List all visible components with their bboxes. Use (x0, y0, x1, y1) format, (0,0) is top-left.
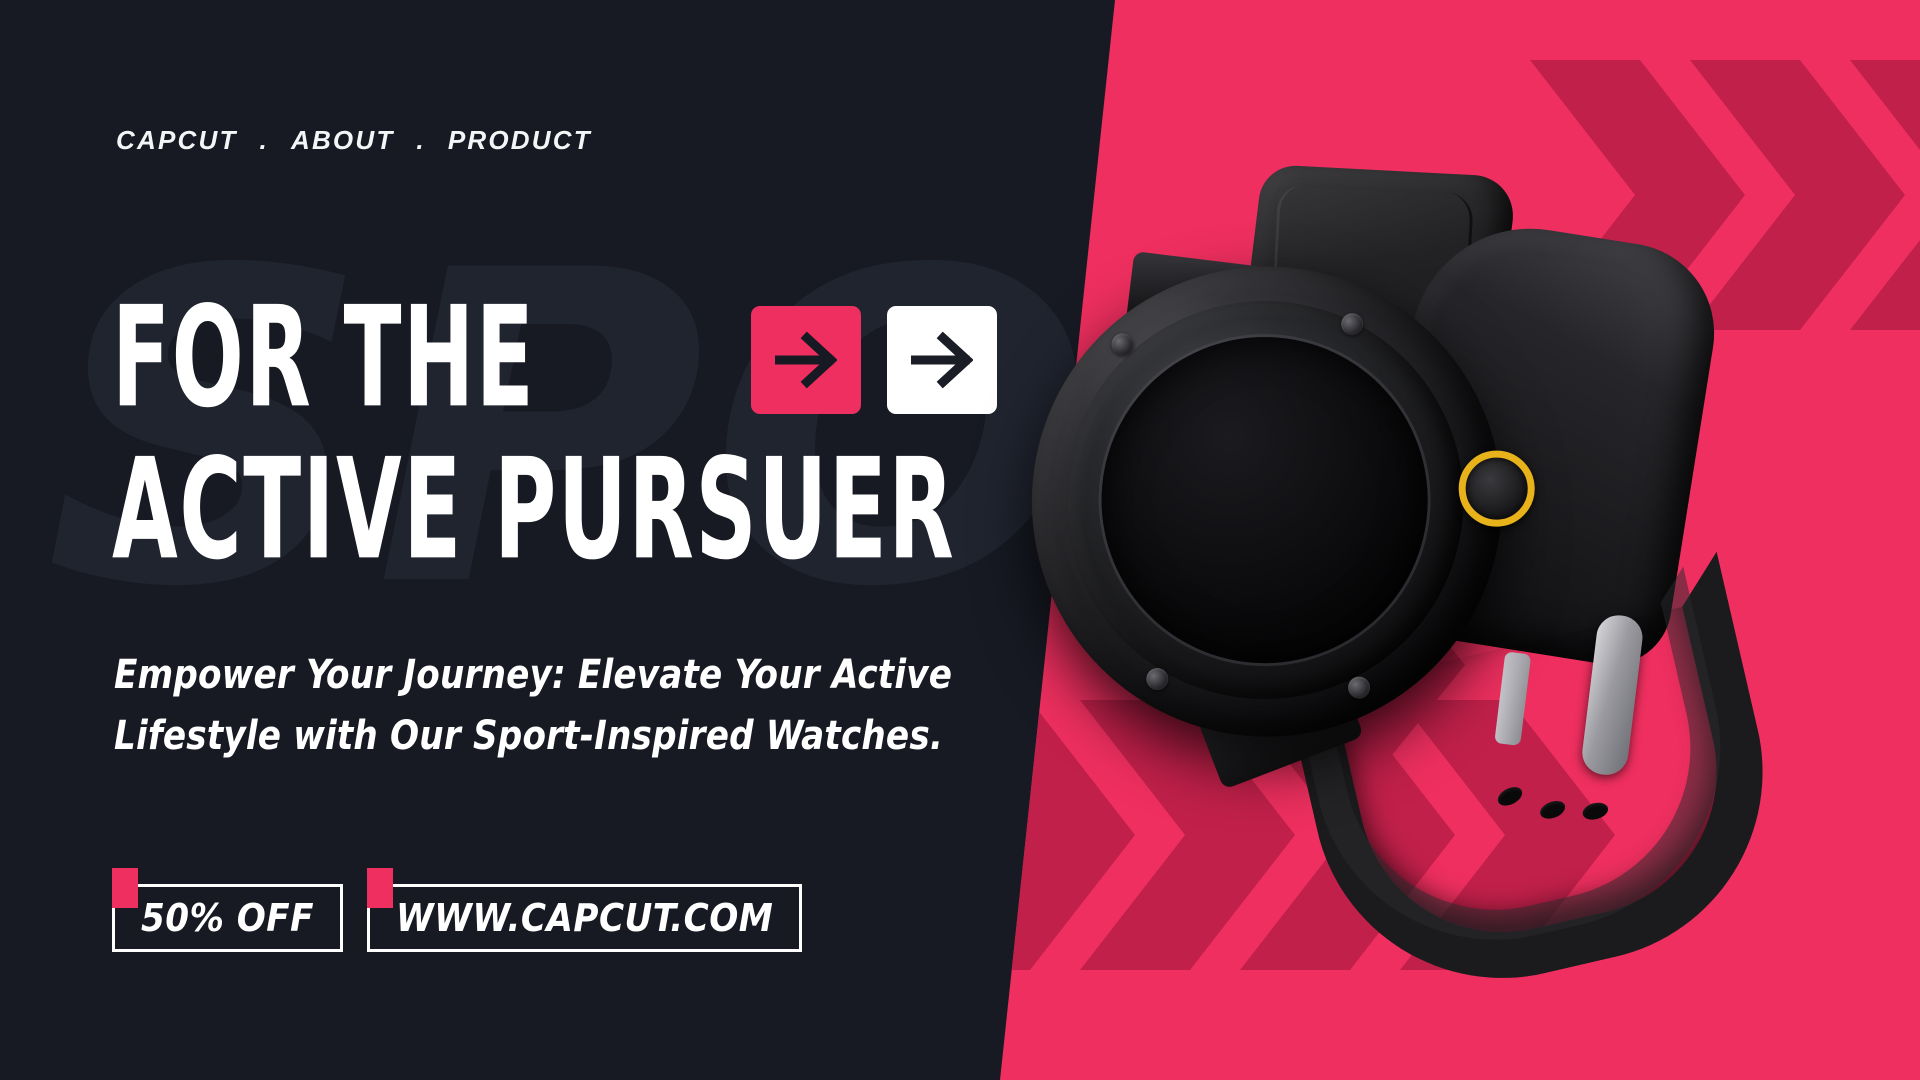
nav-separator-2: . (394, 125, 447, 156)
arrow-right-icon (775, 331, 837, 389)
hero-headline-block: FOR THE ACTIVE PURSUER (112, 300, 1112, 568)
nav-item-capcut[interactable]: CAPCUT (116, 125, 238, 156)
pink-square-accent (112, 868, 138, 908)
arrow-button-group (751, 306, 997, 414)
banner-canvas: SPO CAPCUT . ABOUT . PRODUCT FOR THE (0, 0, 1920, 1080)
nav-separator-1: . (238, 125, 291, 156)
website-badge-wrap: WWW.CAPCUT.COM (367, 868, 802, 952)
discount-badge[interactable]: 50% OFF (112, 884, 343, 952)
cta-row: 50% OFF WWW.CAPCUT.COM (112, 868, 802, 952)
subtitle-line-2: Lifestyle with Our Sport-Inspired Watche… (114, 706, 969, 767)
top-navigation: CAPCUT . ABOUT . PRODUCT (116, 125, 592, 156)
nav-item-product[interactable]: PRODUCT (448, 125, 592, 156)
discount-badge-wrap: 50% OFF (112, 868, 343, 952)
product-image-smartwatch (1005, 125, 1815, 985)
headline-line-2: ACTIVE PURSUER (112, 440, 912, 579)
nav-item-about[interactable]: ABOUT (291, 125, 394, 156)
headline-row-1: FOR THE (112, 300, 1112, 414)
headline-line-1: FOR THE (112, 290, 535, 425)
arrow-button-primary[interactable] (751, 306, 861, 414)
hero-subtitle: Empower Your Journey: Elevate Your Activ… (114, 645, 969, 767)
website-badge[interactable]: WWW.CAPCUT.COM (367, 884, 802, 952)
website-label: WWW.CAPCUT.COM (396, 896, 773, 940)
arrow-button-secondary[interactable] (887, 306, 997, 414)
arrow-right-icon (911, 331, 973, 389)
subtitle-line-1: Empower Your Journey: Elevate Your Activ… (114, 645, 969, 706)
pink-square-accent (367, 868, 393, 908)
discount-label: 50% OFF (141, 896, 314, 940)
